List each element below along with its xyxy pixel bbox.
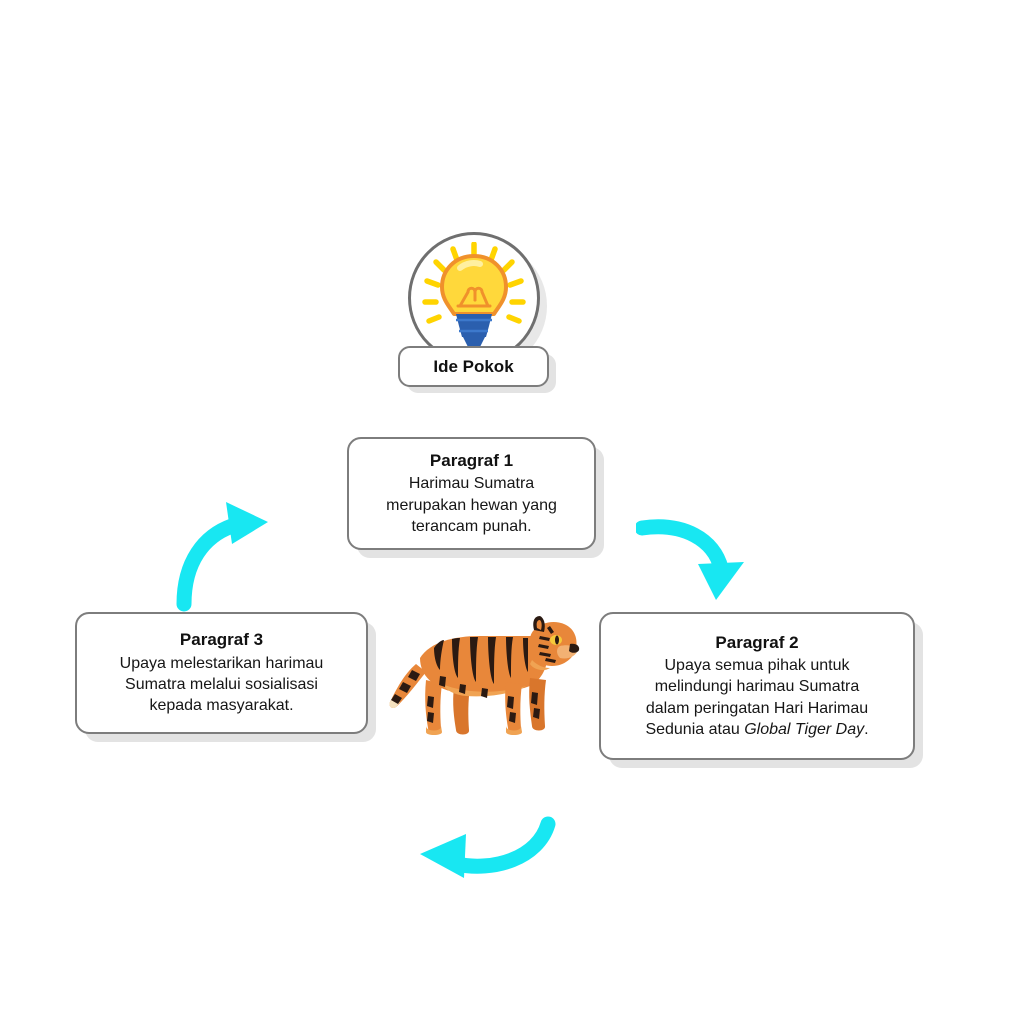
idea-label-box: Ide Pokok bbox=[398, 346, 549, 387]
node-title: Paragraf 1 bbox=[430, 450, 513, 472]
node-title: Paragraf 2 bbox=[715, 632, 798, 654]
central-idea-node: Ide Pokok bbox=[398, 232, 578, 397]
tiger-illustration bbox=[382, 608, 580, 748]
node-body: Harimau Sumatra merupakan hewan yang ter… bbox=[386, 473, 557, 537]
node-body-tail: . bbox=[864, 721, 868, 738]
diagram-canvas: Ide Pokok Paragraf 1 Harimau Sumatra mer… bbox=[0, 0, 1024, 1024]
node-body: Upaya semua pihak untuk melindungi harim… bbox=[645, 655, 868, 740]
node-body: Upaya melestarikan harimau Sumatra melal… bbox=[120, 653, 324, 717]
idea-label-text: Ide Pokok bbox=[433, 357, 513, 377]
node-paragraf-1: Paragraf 1 Harimau Sumatra merupakan hew… bbox=[347, 437, 596, 550]
node-paragraf-3: Paragraf 3 Upaya melestarikan harimau Su… bbox=[75, 612, 368, 734]
node-title: Paragraf 3 bbox=[180, 629, 263, 651]
curved-arrow-left bbox=[170, 496, 290, 612]
curved-arrow-bottom bbox=[398, 806, 558, 896]
curved-arrow-right bbox=[636, 496, 756, 608]
node-paragraf-2: Paragraf 2 Upaya semua pihak untuk melin… bbox=[599, 612, 915, 760]
node-body-italic: Global Tiger Day bbox=[744, 721, 864, 738]
lightbulb-icon bbox=[420, 242, 528, 354]
